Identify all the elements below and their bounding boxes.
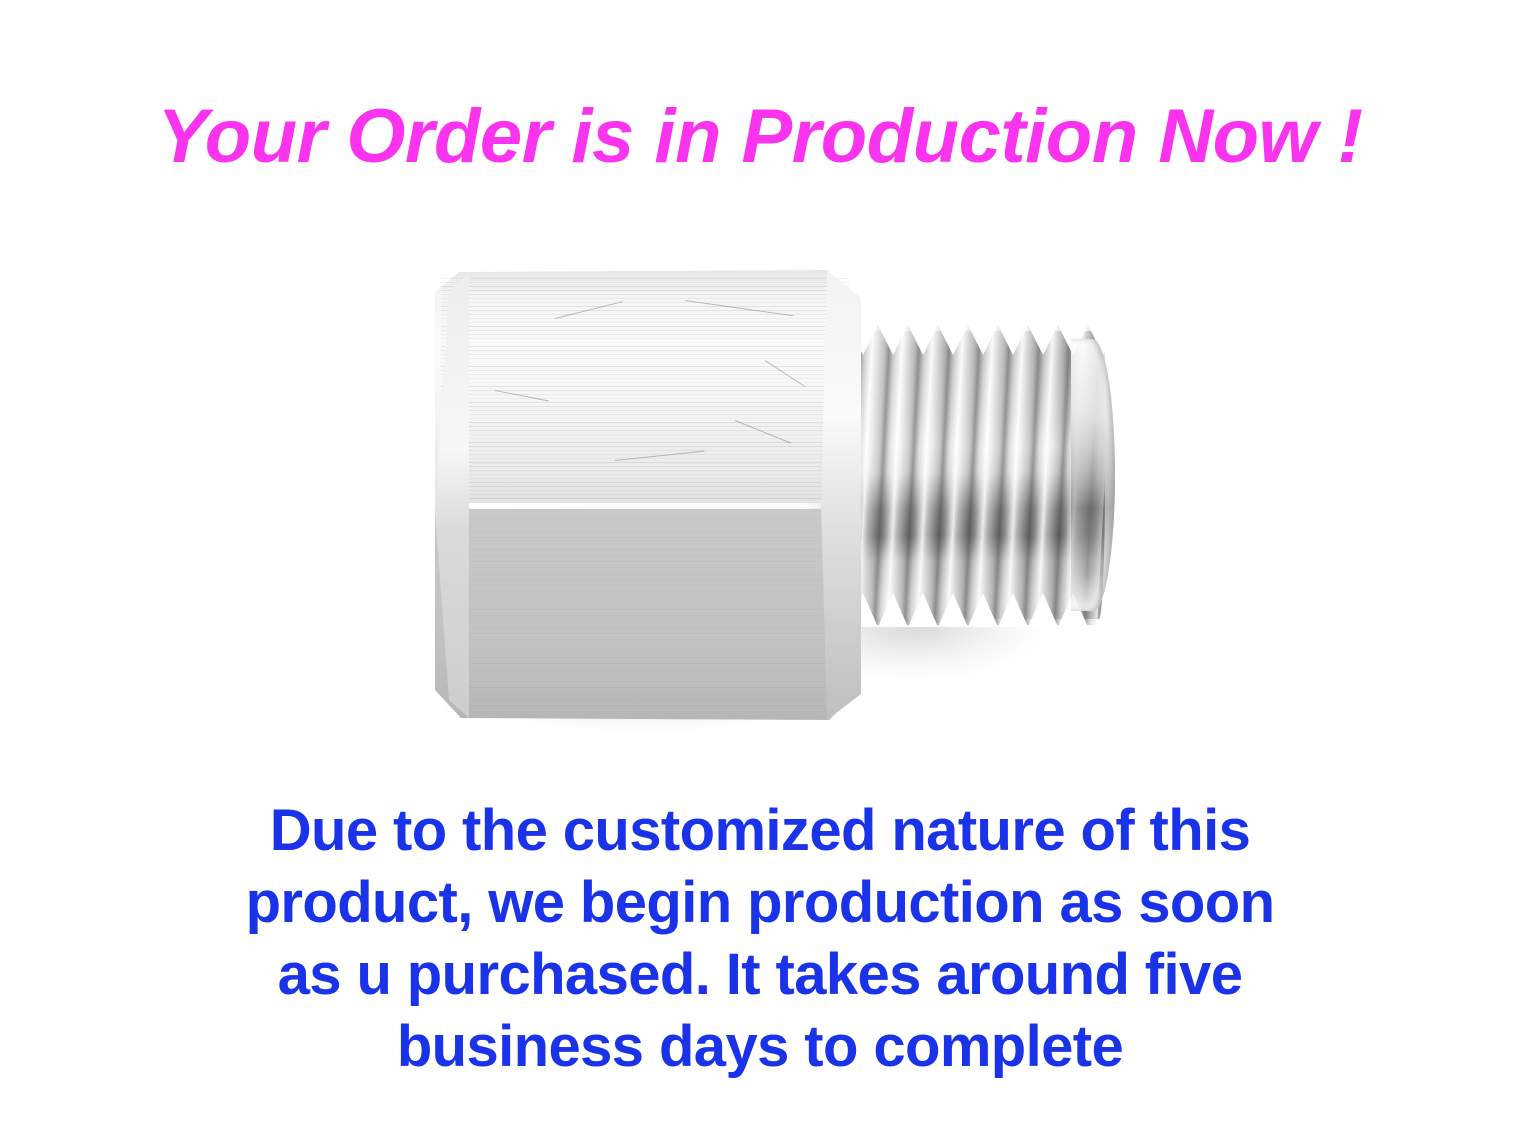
thread-crest: [1028, 325, 1058, 355]
thread-end-face: [1071, 339, 1115, 611]
production-notice: Due to the customized nature of this pro…: [0, 795, 1520, 1083]
notice-line-2: product, we begin production as soon: [0, 867, 1520, 939]
thread-crest: [968, 325, 998, 355]
hex-body: [435, 270, 855, 720]
hex-outline: [434, 269, 856, 721]
notice-line-3: as u purchased. It takes around five: [0, 939, 1520, 1011]
thread-crests-bottom: [833, 583, 1109, 627]
thread-crest: [1028, 593, 1058, 627]
thread-ribs: [835, 325, 1105, 625]
notice-line-1: Due to the customized nature of this: [0, 795, 1520, 867]
thread-crest: [908, 325, 938, 355]
thread-crest: [878, 325, 908, 355]
thread-crests-top: [833, 325, 1109, 367]
thread-crest: [968, 593, 998, 627]
thread-crest: [938, 593, 968, 627]
notice-line-4: business days to complete: [0, 1011, 1520, 1083]
product-photo: [380, 240, 1180, 780]
thread-crest: [908, 593, 938, 627]
page-title: Your Order is in Production Now !: [0, 96, 1520, 178]
thread-crest: [878, 593, 908, 627]
promo-banner: Your Order is in Production Now ! Due t: [0, 0, 1520, 1140]
male-thread: [835, 325, 1125, 625]
thread-crest: [998, 593, 1028, 627]
thread-crest: [938, 325, 968, 355]
thread-crest: [998, 325, 1028, 355]
